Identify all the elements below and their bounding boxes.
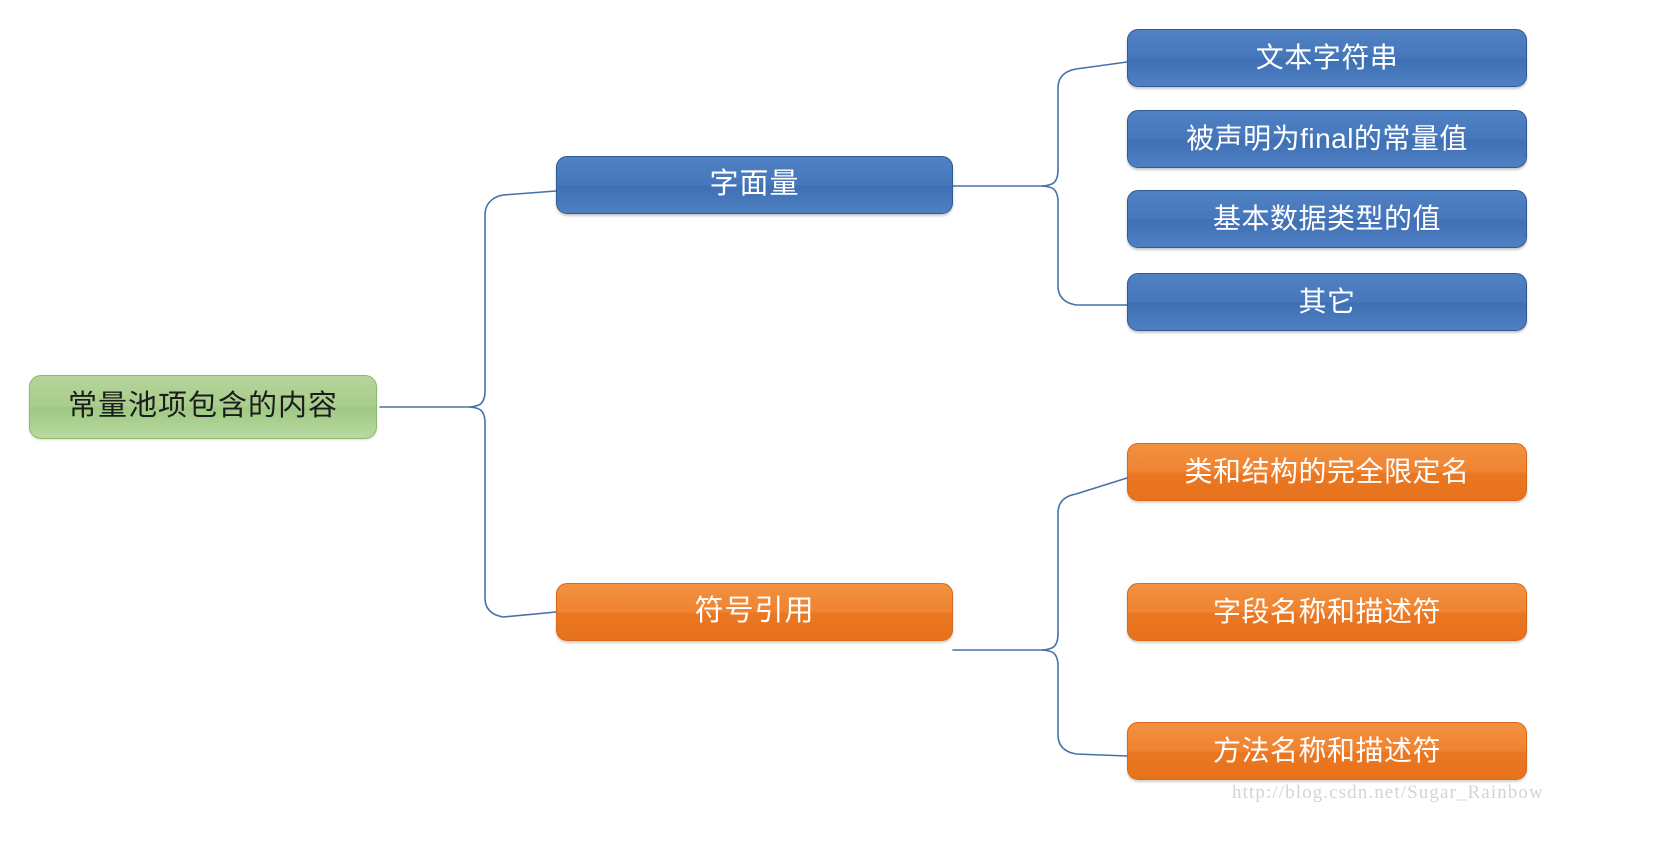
symbol-connector-brace-upper <box>1043 478 1127 650</box>
root-connector-brace-lower <box>470 407 556 617</box>
leaf-node-other[interactable]: 其它 <box>1127 273 1527 331</box>
literal-connector-brace-upper <box>1043 62 1127 186</box>
symbol-connector-brace-lower <box>1043 650 1127 756</box>
leaf-node-final-constant[interactable]: 被声明为final的常量值 <box>1127 110 1527 168</box>
watermark-url: http://blog.csdn.net/Sugar_Rainbow <box>1232 782 1544 804</box>
leaf-node-primitive-value[interactable]: 基本数据类型的值 <box>1127 190 1527 248</box>
branch-node-symbolic-reference[interactable]: 符号引用 <box>556 583 953 641</box>
leaf-node-fully-qualified-name[interactable]: 类和结构的完全限定名 <box>1127 443 1527 501</box>
root-node[interactable]: 常量池项包含的内容 <box>29 375 377 439</box>
branch-node-literal[interactable]: 字面量 <box>556 156 953 214</box>
root-connector-brace <box>470 191 556 407</box>
mindmap-canvas: 常量池项包含的内容 字面量 文本字符串 被声明为final的常量值 基本数据类型… <box>0 0 1657 859</box>
literal-connector-brace-lower <box>1043 186 1127 305</box>
leaf-node-field-name-descriptor[interactable]: 字段名称和描述符 <box>1127 583 1527 641</box>
leaf-node-text-string[interactable]: 文本字符串 <box>1127 29 1527 87</box>
leaf-node-method-name-descriptor[interactable]: 方法名称和描述符 <box>1127 722 1527 780</box>
